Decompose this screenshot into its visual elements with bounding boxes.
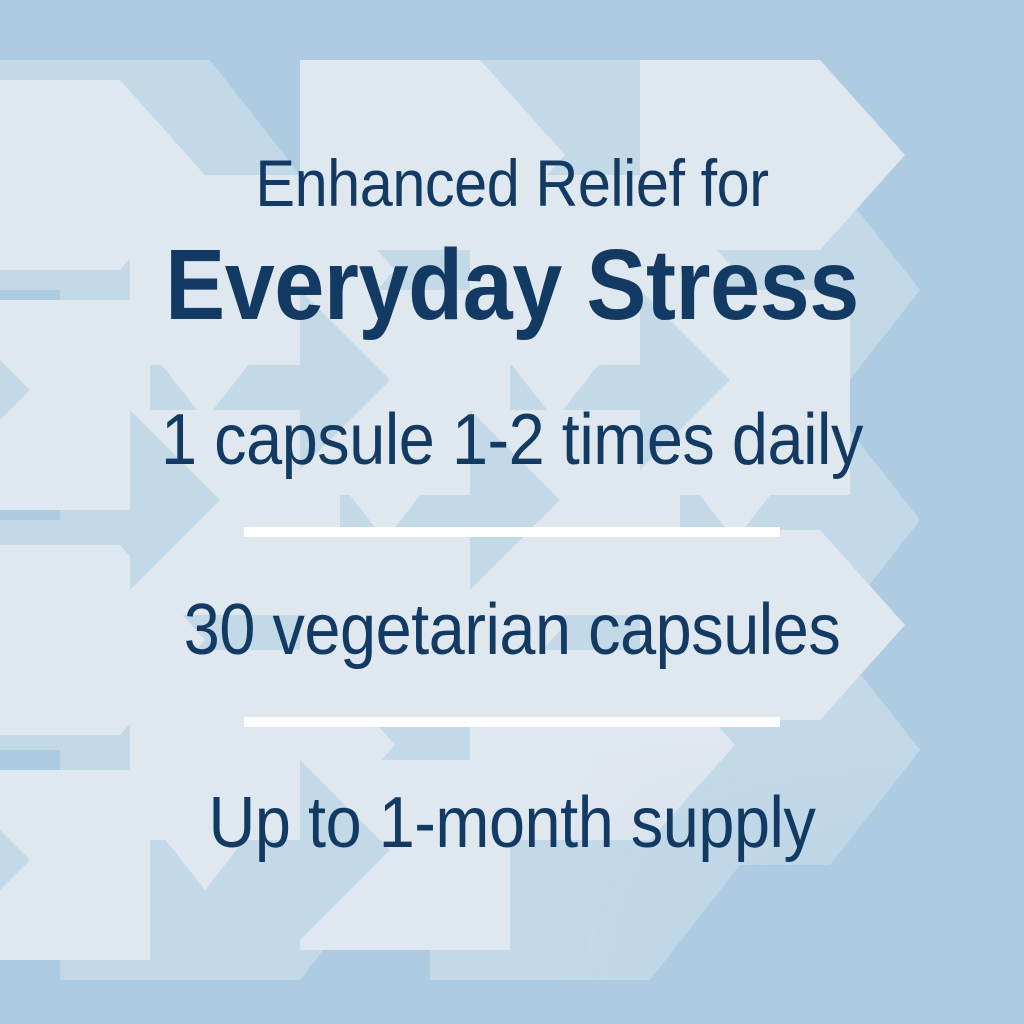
divider-rule-1 <box>244 527 780 537</box>
divider-rule-2 <box>244 717 780 727</box>
copy-block: Enhanced Relief for Everyday Stress 1 ca… <box>0 0 1024 1024</box>
fact-dosage: 1 capsule 1-2 times daily <box>51 404 973 476</box>
fact-supply: Up to 1-month supply <box>51 787 973 859</box>
eyebrow-text: Enhanced Relief for <box>51 150 973 216</box>
fact-count: 30 vegetarian capsules <box>51 594 973 666</box>
product-info-panel: Enhanced Relief for Everyday Stress 1 ca… <box>0 0 1024 1024</box>
page-title: Everyday Stress <box>51 235 973 335</box>
